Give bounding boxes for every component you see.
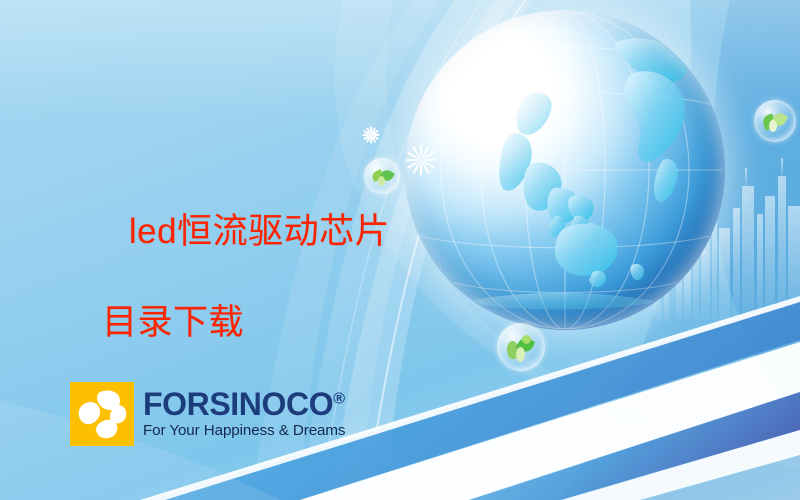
logo-company-name: FORSINOCO® [143,388,345,420]
logo-name-text: FORSINOCO [143,386,333,422]
logo-tagline: For Your Happiness & Dreams [143,422,345,439]
globe-continents-and-grid [405,10,725,330]
sparkle-icon-large [405,144,436,175]
registered-trademark-icon: ® [333,391,345,408]
company-logo: FORSINOCO® For Your Happiness & Dreams [70,382,345,446]
headline-line-2: 目录下载 [88,300,390,346]
banner-image: led恒流驱动芯片 目录下载 FORSINOCO® For Your Happi… [0,0,800,500]
logo-text-block: FORSINOCO® For Your Happiness & Dreams [143,388,345,439]
earth-globe-icon [405,10,725,330]
sparkle-icon-small [362,126,379,143]
flower-petals [70,382,134,446]
bubble-icon-right [754,100,796,142]
headline-line-1: led恒流驱动芯片 [129,212,390,251]
four-petal-flower-icon [70,382,134,446]
bubble-icon-center [497,323,545,371]
